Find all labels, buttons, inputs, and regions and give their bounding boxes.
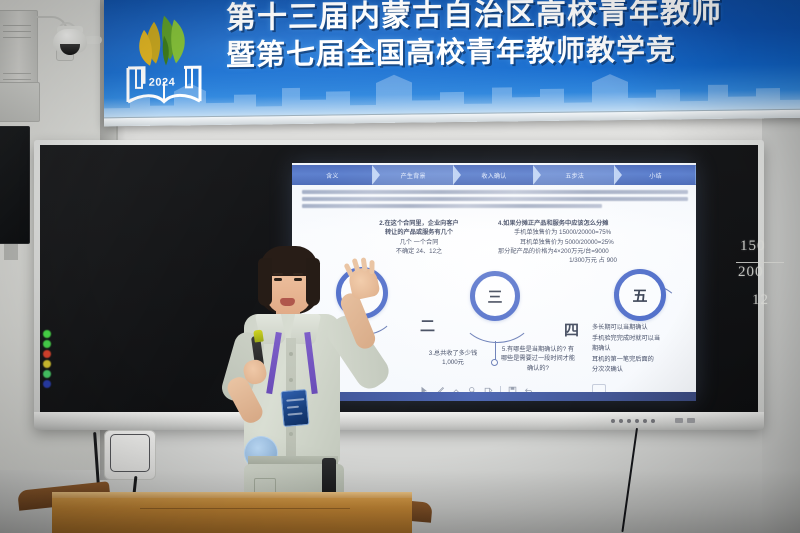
electrical-box: [0, 82, 40, 122]
presenter-button: [289, 378, 293, 382]
question-4-line1: 手机单独售价为 15000/20000=75%: [498, 228, 688, 237]
led-red: [43, 350, 51, 358]
question-4-block: 4.如果分摊正产品和服务中应该怎么分摊 手机单独售价为 15000/20000=…: [498, 219, 688, 265]
control-dot[interactable]: [619, 419, 623, 423]
board-control-panel[interactable]: [606, 416, 726, 425]
step-label-four: 四: [564, 319, 579, 340]
podium-seam: [140, 508, 350, 509]
control-dot[interactable]: [635, 419, 639, 423]
presenter: [214, 240, 384, 533]
ribbon-step-1[interactable]: 含义: [292, 165, 373, 185]
question-3-block: 3.总共收了多少钱 1,000元: [412, 349, 494, 368]
classroom-scene: 2024 第十三届内蒙古自治区高校青年教师 暨第七届全国高校青年教师教学竞 15…: [0, 0, 800, 533]
presenter-button: [289, 432, 293, 436]
question-4-line2: 耳机单独售价为 5000/20000=25%: [498, 238, 688, 247]
question-2-text: 2.在这个合同里，企业向客户 转让的产品或服务有几个: [344, 219, 494, 238]
logo-year: 2024: [122, 76, 202, 89]
wall-outlet-inner: [110, 434, 150, 472]
led-green-3: [43, 370, 51, 378]
ribbon-step-5[interactable]: 小结: [615, 165, 696, 185]
control-chip[interactable]: [687, 418, 695, 423]
paragraph-line: [302, 197, 688, 201]
wall-monitor: [0, 126, 30, 244]
step-circle-five[interactable]: 五: [614, 269, 666, 321]
control-dot[interactable]: [643, 419, 647, 423]
presenter-hair-right: [306, 258, 320, 306]
paragraph-line: [302, 190, 688, 194]
chalk-note-2: 200: [738, 264, 764, 281]
step-circle-three[interactable]: 三: [470, 271, 520, 321]
question-6-block: 多长期可以当期确认 手机验完完成时就可以当 期确认 耳机的第一笔完后面的 分次次…: [592, 323, 690, 376]
microphone-head: [253, 329, 264, 342]
step-label-two: 二: [420, 315, 435, 336]
banner-title-line1: 第十三届内蒙古自治区高校青年教师: [226, 0, 800, 35]
led-yellow: [43, 360, 51, 368]
event-logo: 2024: [122, 5, 206, 112]
question-5-block: 5.有哪些是当期确认的? 有 哪些是需要过一段时间才能 确认的?: [492, 345, 584, 373]
control-chip[interactable]: [675, 418, 683, 423]
led-green-1: [43, 330, 51, 338]
question-4-title: 4.如果分摊正产品和服务中应该怎么分摊: [498, 219, 688, 228]
slide-body-paragraph: [302, 190, 688, 211]
presenter-brow-right: [293, 273, 303, 275]
book-leaf-logo-icon: [122, 5, 206, 112]
chalk-note-3: 12: [752, 292, 769, 309]
question-4-line3: 那分配产品的价格为4×200万元/台=9000: [498, 247, 688, 256]
chalk-note-1: 150: [740, 238, 766, 255]
presenter-brow-left: [273, 273, 283, 275]
led-blue: [43, 380, 51, 388]
wooden-podium: [52, 492, 412, 533]
slide-step-ribbon: 含义 产生背景 收入确认 五步法 小结: [292, 165, 696, 185]
board-led-strip: [42, 330, 51, 390]
presenter-mouth: [280, 298, 295, 306]
event-banner: 2024 第十三届内蒙古自治区高校青年教师 暨第七届全国高校青年教师教学竞: [104, 0, 800, 126]
presenter-hand-right: [347, 265, 381, 300]
presenter-eye-right: [294, 278, 302, 281]
ribbon-step-4[interactable]: 五步法: [534, 165, 615, 185]
paragraph-line: [302, 204, 602, 208]
presenter-hair-left: [258, 258, 272, 306]
id-badge: [280, 389, 309, 427]
led-green-2: [43, 340, 51, 348]
control-dot[interactable]: [611, 419, 615, 423]
banner-text: 第十三届内蒙古自治区高校青年教师 暨第七届全国高校青年教师教学竞: [226, 0, 800, 73]
presenter-eye-left: [274, 278, 282, 281]
presenter-button: [289, 352, 293, 356]
banner-title-line2: 暨第七届全国高校青年教师教学竞: [226, 33, 800, 73]
chalk-fraction-bar: [736, 262, 784, 263]
control-dot[interactable]: [627, 419, 631, 423]
question-4-line4: 1/300万元 占 900: [498, 256, 688, 265]
ribbon-step-3[interactable]: 收入确认: [454, 165, 535, 185]
podium-edge: [52, 492, 412, 498]
control-dot[interactable]: [651, 419, 655, 423]
wall-monitor-stand: [4, 244, 18, 260]
ribbon-step-2[interactable]: 产生背景: [373, 165, 454, 185]
